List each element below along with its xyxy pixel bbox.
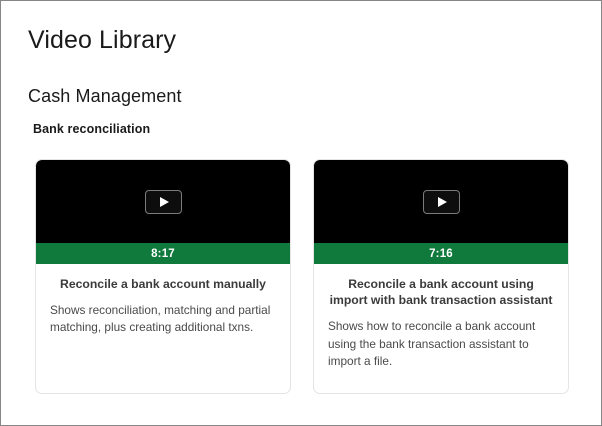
section-heading-cash-management: Cash Management <box>28 86 182 107</box>
video-duration-bar: 7:16 <box>314 243 568 264</box>
play-icon[interactable] <box>423 190 460 214</box>
video-title: Reconcile a bank account using import wi… <box>328 276 554 308</box>
video-card-list: 8:17 Reconcile a bank account manually S… <box>35 159 569 394</box>
video-description: Shows how to reconcile a bank account us… <box>328 318 554 369</box>
video-card-body: Reconcile a bank account manually Shows … <box>36 264 290 393</box>
video-thumbnail[interactable] <box>314 160 568 243</box>
video-duration-label: 7:16 <box>429 248 453 260</box>
video-duration-label: 8:17 <box>151 248 175 260</box>
video-card[interactable]: 8:17 Reconcile a bank account manually S… <box>35 159 291 394</box>
play-icon[interactable] <box>145 190 182 214</box>
page-title: Video Library <box>28 26 176 55</box>
play-triangle-glyph <box>160 197 169 207</box>
video-card-body: Reconcile a bank account using import wi… <box>314 264 568 393</box>
video-description: Shows reconciliation, matching and parti… <box>50 302 276 336</box>
video-title: Reconcile a bank account manually <box>50 276 276 292</box>
video-library-page: Video Library Cash Management Bank recon… <box>0 0 602 426</box>
video-card[interactable]: 7:16 Reconcile a bank account using impo… <box>313 159 569 394</box>
play-triangle-glyph <box>438 197 447 207</box>
video-duration-bar: 8:17 <box>36 243 290 264</box>
video-thumbnail[interactable] <box>36 160 290 243</box>
subsection-heading-bank-reconciliation: Bank reconciliation <box>33 122 150 136</box>
